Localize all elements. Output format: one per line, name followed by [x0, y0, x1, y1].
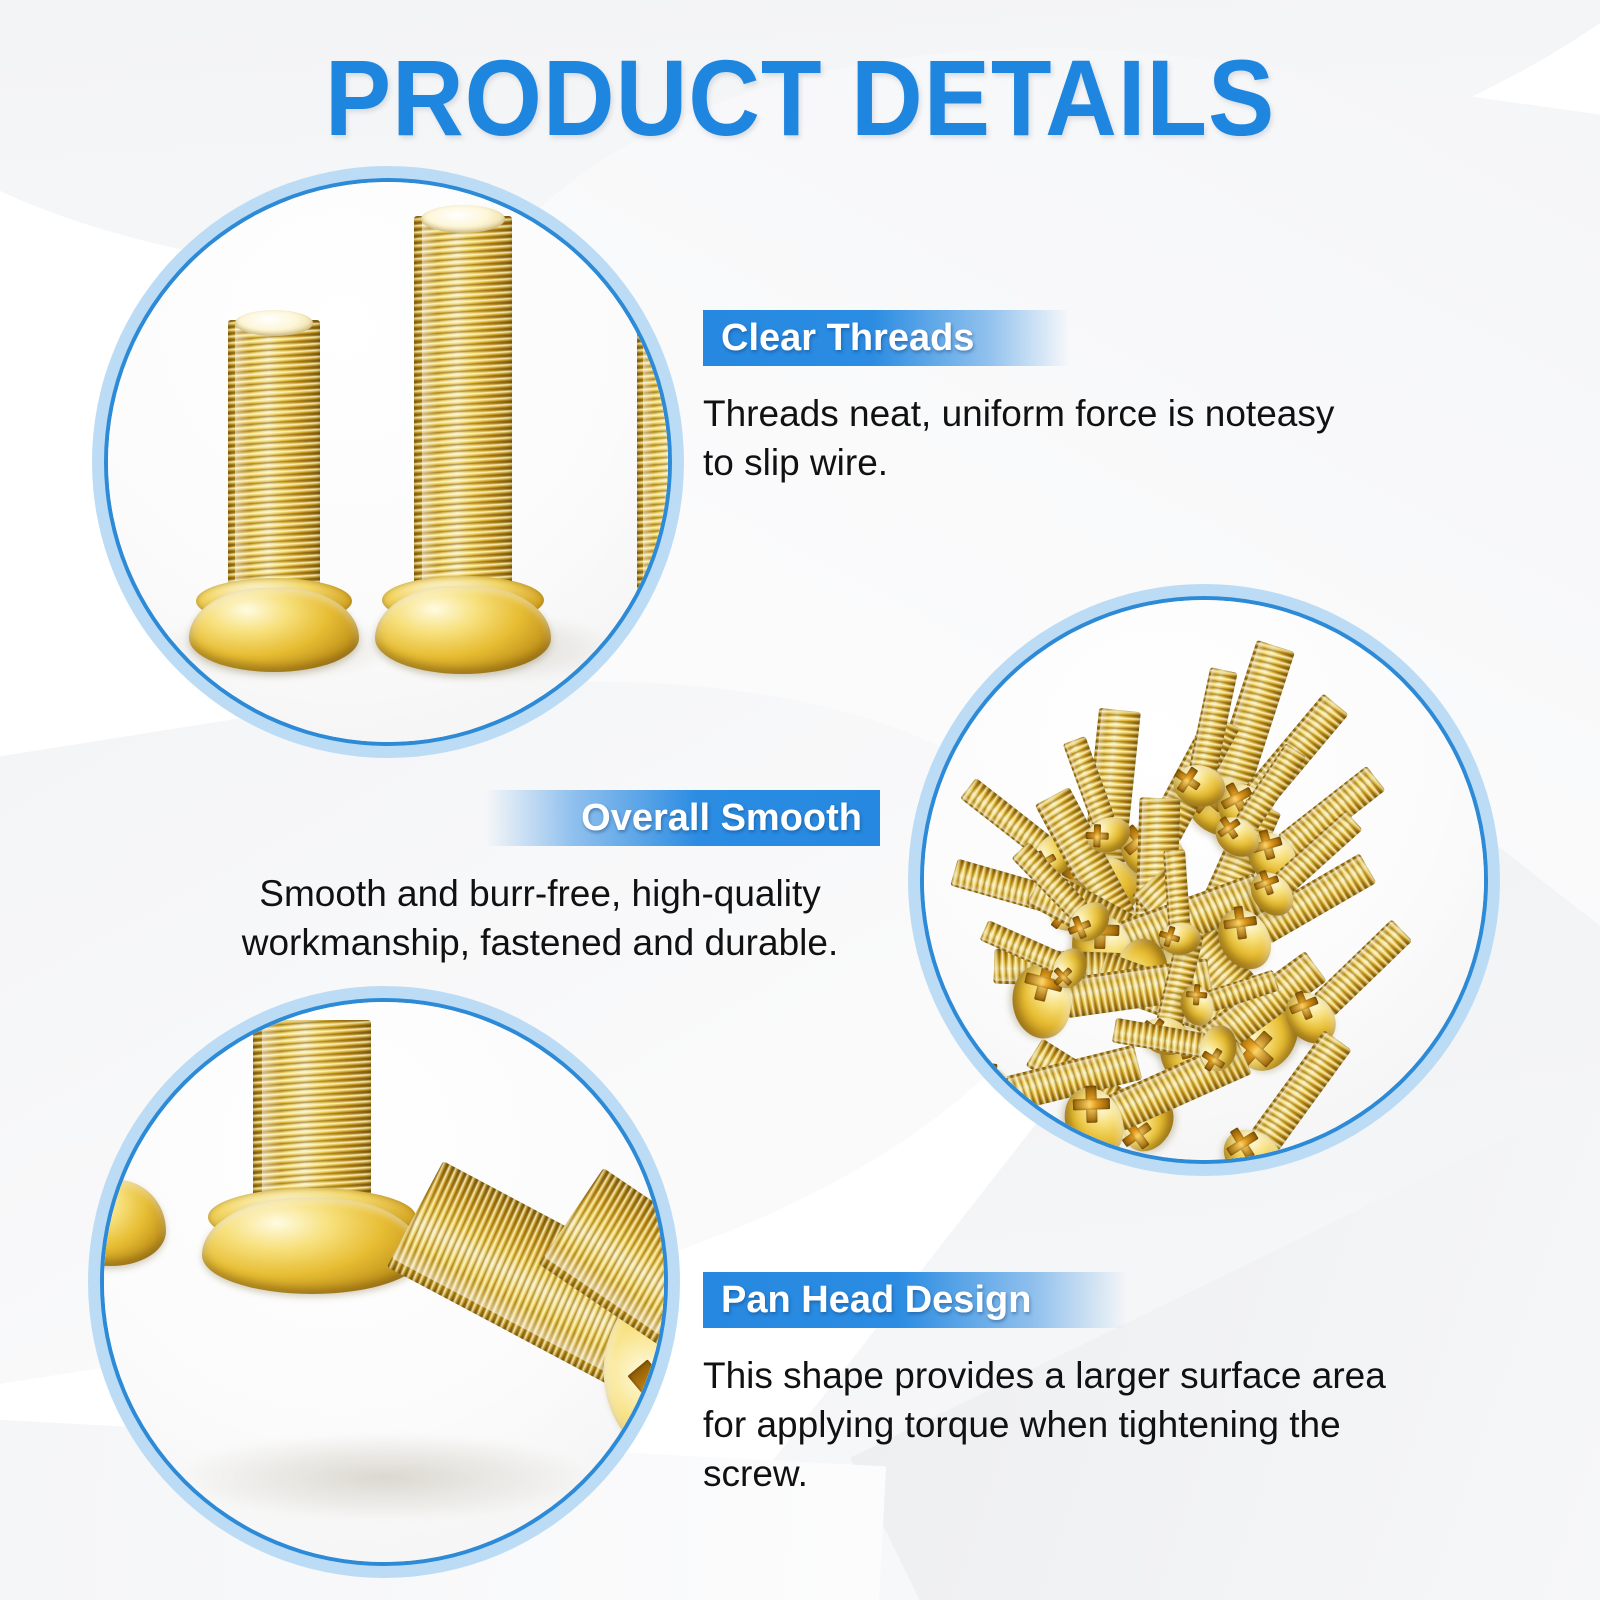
screw-shaft [1189, 667, 1237, 772]
feature-clear-threads: Clear Threads Threads neat, uniform forc… [703, 310, 1463, 488]
photo-pan-head-phillips-close-up [104, 1002, 664, 1562]
screw-shaft [1163, 849, 1190, 925]
page-title: PRODUCT DETAILS [64, 44, 1536, 152]
screw-tip-face [421, 205, 505, 233]
photo-inner [104, 1002, 664, 1562]
screw-partial-right-edge [628, 314, 668, 614]
screw-pan-head [1197, 1023, 1240, 1075]
screw-shaft [414, 216, 512, 608]
feature-text-overall-smooth: Smooth and burr-free, high-quality workm… [200, 870, 880, 968]
feature-text-pan-head-design: This shape provides a larger surface are… [703, 1352, 1503, 1498]
screw-pan-head [375, 586, 551, 674]
screw-pan-head [1159, 921, 1202, 956]
screw-upright-left [214, 320, 334, 630]
feature-overall-smooth: Overall Smooth Smooth and burr-free, hig… [200, 790, 880, 968]
screw-pan-head [956, 1060, 1023, 1138]
screw-pan-head [189, 588, 359, 672]
screw-upright-right [398, 216, 528, 636]
photo-two-brass-pan-head-screws-upright [108, 182, 668, 742]
photo-pile-of-gold-screws [924, 600, 1484, 1160]
product-details-infographic: PRODUCT DETAILS [0, 0, 1600, 1600]
screw-shadow [174, 1432, 594, 1522]
photo-inner [108, 182, 668, 742]
screw-shaft [1207, 970, 1279, 1012]
screw-tip-face [235, 310, 313, 336]
feature-label-clear-threads: Clear Threads [703, 310, 1070, 366]
feature-text-clear-threads: Threads neat, uniform force is noteasy t… [703, 390, 1463, 488]
feature-label-pan-head-design: Pan Head Design [703, 1272, 1127, 1328]
screw-shaft [637, 314, 668, 600]
screw-shaft [1314, 919, 1413, 1016]
photo-inner [924, 600, 1484, 1160]
feature-pan-head-design: Pan Head Design This shape provides a la… [703, 1272, 1503, 1498]
feature-label-overall-smooth: Overall Smooth [485, 790, 880, 846]
screw-pan-head [104, 1180, 166, 1266]
screw-partial-left-edge [104, 1180, 166, 1270]
screw-shaft [228, 320, 320, 610]
screw-upright-background [212, 1020, 412, 1270]
screw-in-pile [1152, 848, 1203, 955]
screw-shaft [253, 1020, 371, 1210]
